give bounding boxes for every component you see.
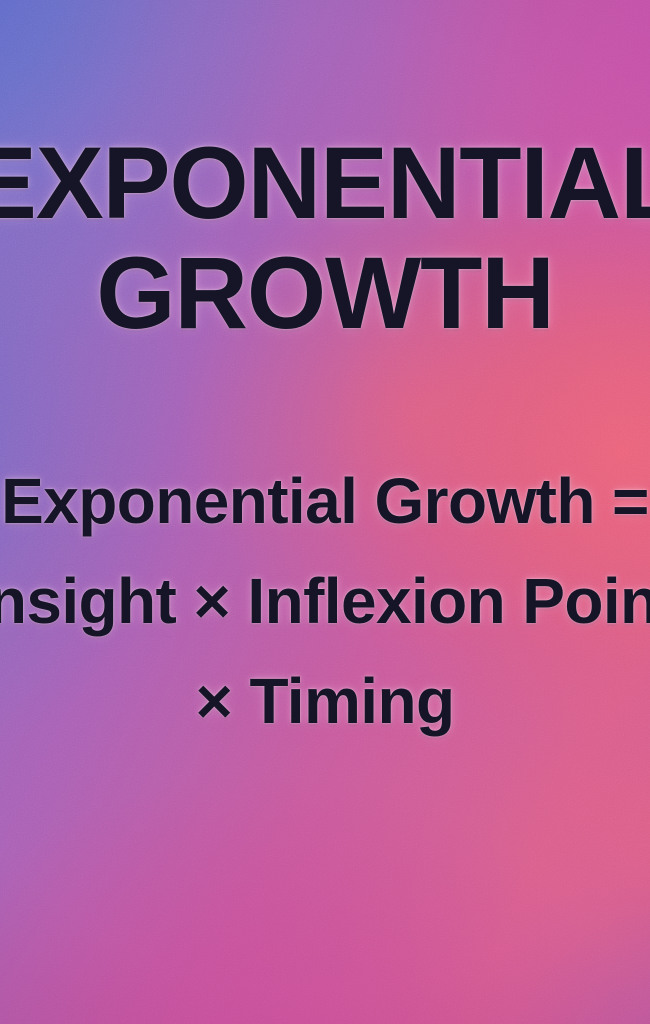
poster-subtitle-formula: Exponential Growth = Insight × Inflexion… bbox=[0, 452, 650, 751]
poster-text-content: EXPONENTIAL GROWTH Exponential Growth = … bbox=[0, 0, 650, 1024]
poster-canvas: EXPONENTIAL GROWTH Exponential Growth = … bbox=[0, 0, 650, 1024]
page-title: EXPONENTIAL GROWTH bbox=[0, 128, 650, 348]
